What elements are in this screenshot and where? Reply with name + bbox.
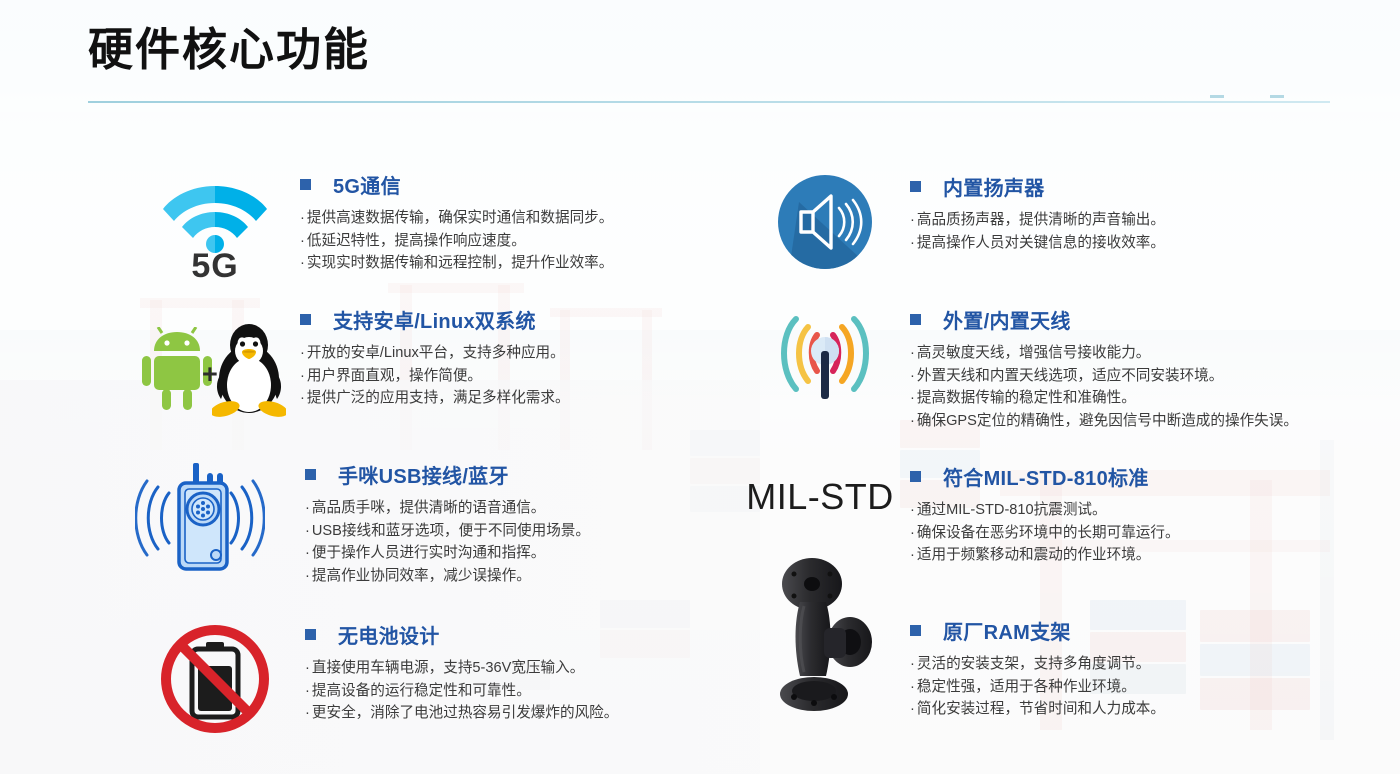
antenna-icon	[770, 307, 880, 403]
feature-line: 高品质扬声器，提供清晰的声音输出。	[910, 209, 1380, 232]
feature-speaker-title: 内置扬声器	[943, 172, 1045, 201]
feature-line: 通过MIL-STD-810抗震测试。	[910, 499, 1380, 522]
feature-speaker-lines: 高品质扬声器，提供清晰的声音输出。 提高操作人员对关键信息的接收效率。	[910, 209, 1380, 254]
feature-android-linux-icon-box: +	[130, 305, 290, 425]
feature-5g-text: 5G通信 提供高速数据传输，确保实时通信和数据同步。 低延迟特性，提高操作响应速…	[300, 170, 770, 275]
feature-no-battery-text: 无电池设计 直接使用车辆电源，支持5-36V宽压输入。 提高设备的运行稳定性和可…	[305, 620, 775, 725]
no-battery-icon	[159, 622, 271, 734]
feature-no-battery-heading: 无电池设计	[305, 620, 775, 649]
feature-line: 开放的安卓/Linux平台，支持多种应用。	[300, 342, 770, 365]
feature-handmic-heading: 手咪USB接线/蓝牙	[305, 460, 775, 489]
feature-handmic-icon-box	[120, 460, 280, 575]
feature-line: 提高设备的运行稳定性和可靠性。	[305, 680, 775, 703]
feature-line: 提高作业协同效率，减少误操作。	[305, 565, 775, 588]
feature-ram-mount-lines: 灵活的安装支架，支持多角度调节。 稳定性强，适用于各种作业环境。 简化安装过程，…	[910, 653, 1380, 721]
feature-no-battery-icon-box	[140, 620, 290, 735]
android-linux-icon: +	[140, 313, 280, 417]
feature-line: 用户界面直观，操作简便。	[300, 365, 770, 388]
feature-speaker-text: 内置扬声器 高品质扬声器，提供清晰的声音输出。 提高操作人员对关键信息的接收效率…	[910, 172, 1380, 254]
feature-mil-std-lines: 通过MIL-STD-810抗震测试。 确保设备在恶劣环境中的长期可靠运行。 适用…	[910, 499, 1380, 567]
feature-5g-lines: 提供高速数据传输，确保实时通信和数据同步。 低延迟特性，提高操作响应速度。 实现…	[300, 207, 770, 275]
feature-antenna-icon-box	[750, 305, 900, 405]
bullet-square-icon	[305, 629, 316, 640]
feature-android-linux-heading: 支持安卓/Linux双系统	[300, 305, 770, 334]
feature-line: 外置天线和内置天线选项，适应不同安装环境。	[910, 365, 1390, 388]
feature-line: 便于操作人员进行实时沟通和指挥。	[305, 542, 775, 565]
feature-5g-heading: 5G通信	[300, 170, 770, 199]
feature-android-linux-lines: 开放的安卓/Linux平台，支持多种应用。 用户界面直观，操作简便。 提供广泛的…	[300, 342, 770, 410]
wifi-5g-icon-label: 5G	[163, 247, 267, 286]
feature-ram-mount-heading: 原厂RAM支架	[910, 616, 1380, 645]
feature-ram-mount-icon-box	[750, 555, 900, 720]
feature-antenna-heading: 外置/内置天线	[910, 305, 1390, 334]
feature-line: 确保设备在恶劣环境中的长期可靠运行。	[910, 522, 1380, 545]
feature-ram-mount-title: 原厂RAM支架	[943, 616, 1071, 645]
feature-grid: 5G 5G通信 提供高速数据传输，确保实时通信和数据同步。 低延迟特性，提高操作…	[0, 0, 1400, 774]
speaker-icon	[777, 174, 873, 270]
wifi-arcs-icon	[163, 178, 267, 256]
bullet-square-icon	[910, 625, 921, 636]
feature-5g-title: 5G通信	[333, 170, 401, 199]
feature-5g-icon-box: 5G	[140, 170, 290, 290]
walkie-talkie-icon	[135, 463, 265, 573]
feature-line: 确保GPS定位的精确性，避免因信号中断造成的操作失误。	[910, 410, 1340, 433]
feature-line: 直接使用车辆电源，支持5-36V宽压输入。	[305, 657, 775, 680]
feature-line: 稳定性强，适用于各种作业环境。	[910, 676, 1380, 699]
feature-line: 提供高速数据传输，确保实时通信和数据同步。	[300, 207, 770, 230]
bullet-square-icon	[910, 314, 921, 325]
feature-mil-std-icon-box: MIL-STD	[730, 462, 910, 532]
feature-speaker-heading: 内置扬声器	[910, 172, 1380, 201]
feature-android-linux-title: 支持安卓/Linux双系统	[333, 305, 536, 334]
feature-ram-mount-text: 原厂RAM支架 灵活的安装支架，支持多角度调节。 稳定性强，适用于各种作业环境。…	[910, 616, 1380, 721]
wifi-5g-icon: 5G	[163, 178, 267, 282]
feature-line: 提供广泛的应用支持，满足多样化需求。	[300, 387, 770, 410]
feature-android-linux-text: 支持安卓/Linux双系统 开放的安卓/Linux平台，支持多种应用。 用户界面…	[300, 305, 770, 410]
bullet-square-icon	[300, 179, 311, 190]
feature-mil-std-title: 符合MIL-STD-810标准	[943, 462, 1149, 491]
feature-no-battery-lines: 直接使用车辆电源，支持5-36V宽压输入。 提高设备的运行稳定性和可靠性。 更安…	[305, 657, 775, 725]
feature-speaker-icon-box	[750, 172, 900, 272]
feature-line: 低延迟特性，提高操作响应速度。	[300, 230, 770, 253]
feature-mil-std-text: 符合MIL-STD-810标准 通过MIL-STD-810抗震测试。 确保设备在…	[910, 462, 1380, 567]
bullet-square-icon	[910, 181, 921, 192]
feature-line: USB接线和蓝牙选项，便于不同使用场景。	[305, 520, 775, 543]
feature-antenna-lines: 高灵敏度天线，增强信号接收能力。 外置天线和内置天线选项，适应不同安装环境。 提…	[910, 342, 1390, 432]
feature-line: 高灵敏度天线，增强信号接收能力。	[910, 342, 1390, 365]
feature-line: 灵活的安装支架，支持多角度调节。	[910, 653, 1380, 676]
slide-canvas: 硬件核心功能	[0, 0, 1400, 774]
linux-penguin-icon	[212, 321, 286, 417]
feature-line: 更安全，消除了电池过热容易引发爆炸的风险。	[305, 702, 775, 725]
feature-line: 提高数据传输的稳定性和准确性。	[910, 387, 1390, 410]
feature-handmic-text: 手咪USB接线/蓝牙 高品质手咪，提供清晰的语音通信。 USB接线和蓝牙选项，便…	[305, 460, 775, 587]
feature-line: 简化安装过程，节省时间和人力成本。	[910, 698, 1380, 721]
feature-antenna-text: 外置/内置天线 高灵敏度天线，增强信号接收能力。 外置天线和内置天线选项，适应不…	[910, 305, 1390, 432]
feature-handmic-lines: 高品质手咪，提供清晰的语音通信。 USB接线和蓝牙选项，便于不同使用场景。 便于…	[305, 497, 775, 587]
feature-line: 提高操作人员对关键信息的接收效率。	[910, 232, 1380, 255]
feature-no-battery-title: 无电池设计	[338, 620, 440, 649]
bullet-square-icon	[910, 471, 921, 482]
ram-mount-icon	[764, 558, 886, 718]
feature-antenna-title: 外置/内置天线	[943, 305, 1071, 334]
bullet-square-icon	[305, 469, 316, 480]
feature-handmic-title: 手咪USB接线/蓝牙	[338, 460, 509, 489]
feature-line: 高品质手咪，提供清晰的语音通信。	[305, 497, 775, 520]
mil-std-text-icon: MIL-STD	[746, 476, 894, 518]
bullet-square-icon	[300, 314, 311, 325]
feature-line: 适用于频繁移动和震动的作业环境。	[910, 544, 1380, 567]
feature-mil-std-heading: 符合MIL-STD-810标准	[910, 462, 1380, 491]
feature-line: 实现实时数据传输和远程控制，提升作业效率。	[300, 252, 770, 275]
